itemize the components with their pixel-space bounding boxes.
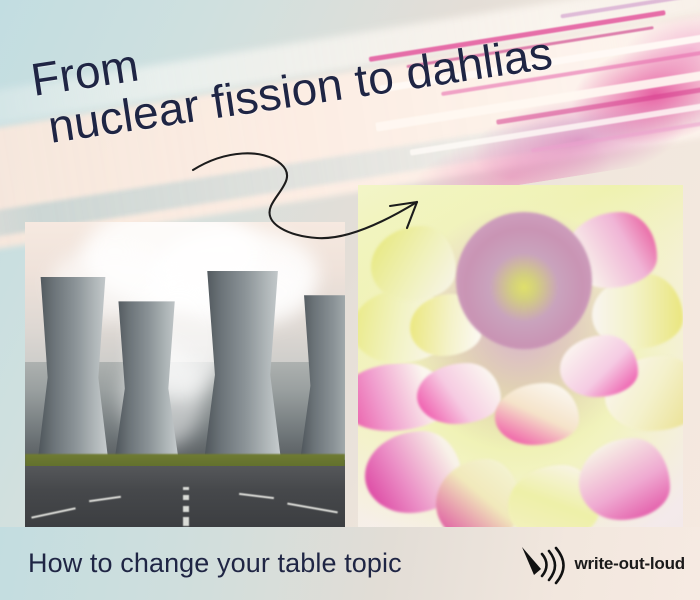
brand-name: write-out-loud [574, 554, 685, 574]
brand-logo[interactable]: write-out-loud [516, 542, 685, 586]
cooling-tower [300, 295, 345, 460]
graphic-canvas: From nuclear fission to dahlias [0, 0, 700, 600]
cooling-tower [38, 277, 108, 460]
pen-soundwave-icon [516, 542, 568, 586]
photo-nuclear-cooling-towers [25, 222, 345, 527]
cooling-tower [204, 271, 281, 460]
caption-text: How to change your table topic [28, 548, 402, 579]
headline: From nuclear fission to dahlias [24, 0, 691, 153]
flower-centre [456, 212, 593, 349]
road [25, 466, 345, 527]
bottom-bar: How to change your table topic write-out… [0, 527, 700, 600]
photo-dahlia-flower [358, 185, 683, 527]
